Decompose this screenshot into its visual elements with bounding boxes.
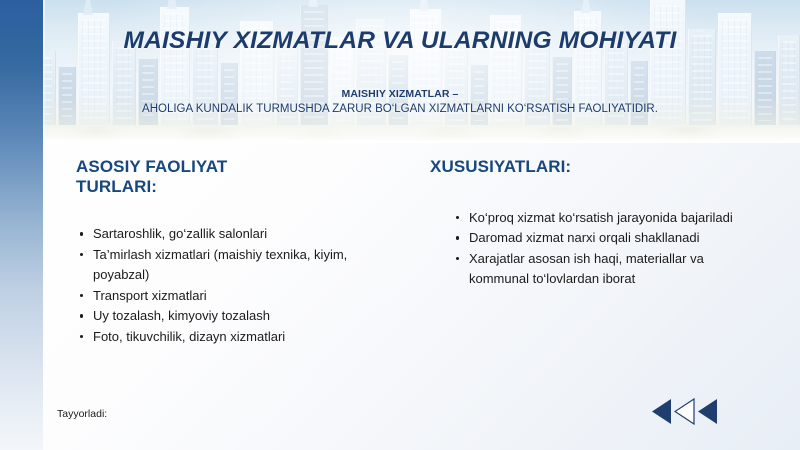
column-heading-right: XUSUSIYATLARI: — [430, 157, 750, 177]
left-accent-strip-edge — [43, 0, 45, 450]
bullet-list-left: Sartaroshlik, go‘zallik salonlari Ta’mir… — [76, 224, 406, 347]
presentation-slide: MAISHIY XIZMATLAR VA ULARNING MOHIYATI M… — [0, 0, 800, 450]
list-item: Foto, tikuvchilik, dizayn xizmatlari — [76, 327, 406, 347]
list-item: Ko‘proq xizmat ko‘rsatish jarayonida baj… — [452, 208, 750, 228]
list-item: Xarajatlar asosan ish haqi, materiallar … — [452, 249, 750, 289]
subtitle-definition-term: MAISHIY XIZMATLAR – — [0, 88, 800, 100]
list-item: Sartaroshlik, go‘zallik salonlari — [76, 224, 406, 244]
previous-arrow-outline-icon[interactable] — [674, 398, 696, 425]
left-accent-strip — [0, 0, 43, 450]
column-heading-left: ASOSIY FAOLIYAT TURLARI: — [76, 157, 406, 196]
bullet-list-right: Ko‘proq xizmat ko‘rsatish jarayonida baj… — [452, 208, 750, 289]
list-item: Ta’mirlash xizmatlari (maishiy texnika, … — [76, 245, 406, 285]
prepared-by-label: Tayyorladi: — [57, 408, 107, 420]
column-activity-types: ASOSIY FAOLIYAT TURLARI: Sartaroshlik, g… — [76, 157, 406, 348]
previous-arrow-solid-icon[interactable] — [651, 398, 673, 425]
navigation-arrows[interactable] — [651, 398, 719, 425]
list-item: Transport xizmatlari — [76, 286, 406, 306]
previous-arrow-solid-icon[interactable] — [697, 398, 719, 425]
column-characteristics: XUSUSIYATLARI: Ko‘proq xizmat ko‘rsatish… — [430, 157, 750, 290]
page-title: MAISHIY XIZMATLAR VA ULARNING MOHIYATI — [0, 27, 800, 55]
list-item: Uy tozalash, kimyoviy tozalash — [76, 306, 406, 326]
subtitle-definition-text: AHOLIGA KUNDALIK TURMUSHDA ZARUR BO‘LGAN… — [0, 103, 800, 115]
list-item: Daromad xizmat narxi orqali shakllanadi — [452, 228, 750, 248]
